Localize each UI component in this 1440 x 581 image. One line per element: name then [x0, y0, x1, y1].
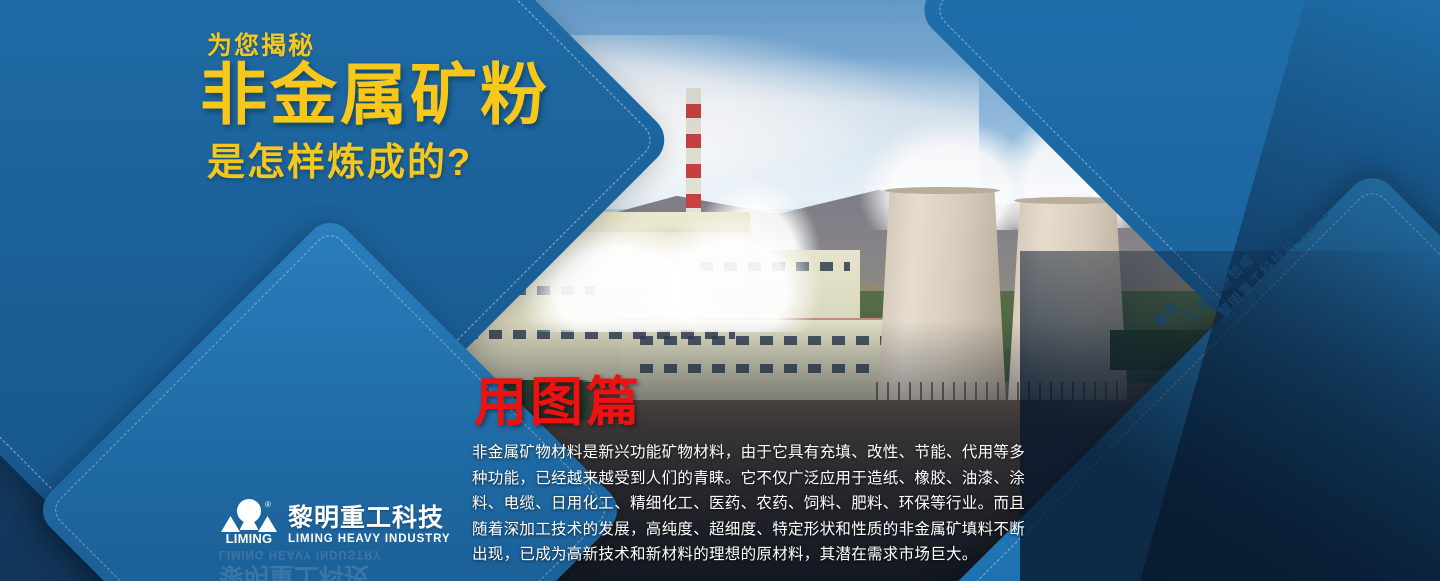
page-title: 非金属矿粉	[200, 62, 550, 129]
company-name-en: LIMING HEAVY INDUSTRY	[288, 533, 450, 545]
subtitle-text: 是怎样炼成的?	[207, 131, 472, 186]
registered-trademark-icon: ®	[265, 500, 271, 509]
company-name-cn: 黎明重工科技	[288, 505, 450, 531]
liming-logo-icon: ® LIMING	[219, 499, 279, 545]
body-paragraph: 非金属矿物材料是新兴功能矿物材料，由于它具有充填、改性、节能、代用等多种功能，已…	[472, 440, 1032, 568]
promo-banner: 为您揭秘 非金属矿粉 是怎样炼成的? 用图篇 非金属矿物材料是新兴功能矿物材料，…	[0, 0, 1440, 581]
company-logo[interactable]: ® LIMING 黎明重工科技 LIMING HEAVY INDUSTRY	[219, 499, 450, 545]
logo-triangle-right	[258, 516, 277, 532]
section-title: 用图篇	[474, 376, 642, 429]
kicker-text: 为您揭秘	[207, 26, 315, 62]
logo-wordmark: LIMING	[219, 531, 279, 546]
logo-text-block: 黎明重工科技 LIMING HEAVY INDUSTRY	[288, 505, 450, 545]
logo-triangle-left	[221, 516, 240, 532]
